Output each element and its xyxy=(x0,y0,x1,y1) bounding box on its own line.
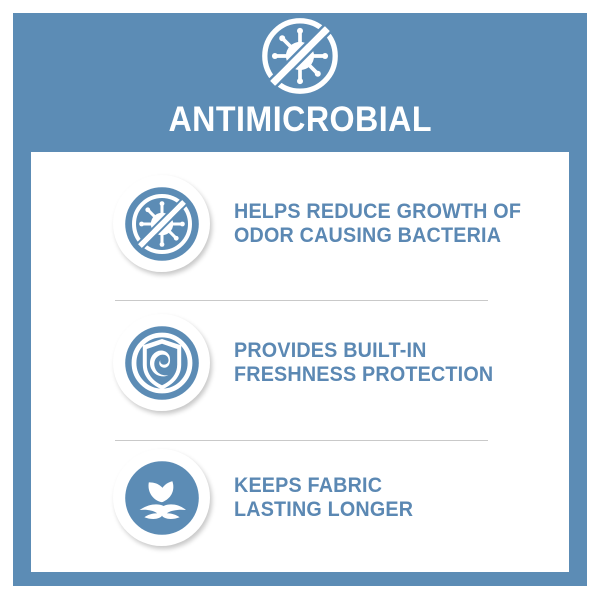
list-item-label: PROVIDES BUILT-IN FRESHNESS PROTECTION xyxy=(234,339,493,387)
feature-list: HELPS REDUCE GROWTH OF ODOR CAUSING BACT… xyxy=(31,152,569,572)
shield-swirl-icon xyxy=(122,323,202,403)
icon-badge xyxy=(113,175,210,272)
icon-badge xyxy=(113,314,210,411)
blue-frame: ANTIMICROBIAL xyxy=(13,13,587,586)
list-item: HELPS REDUCE GROWTH OF ODOR CAUSING BACT… xyxy=(31,152,569,295)
antimicrobial-infographic: ANTIMICROBIAL xyxy=(0,0,600,600)
list-item-label: HELPS REDUCE GROWTH OF ODOR CAUSING BACT… xyxy=(234,200,521,248)
no-germ-icon xyxy=(122,184,202,264)
bottom-frame-strip xyxy=(13,572,587,586)
page-title: ANTIMICROBIAL xyxy=(168,102,432,138)
header: ANTIMICROBIAL xyxy=(13,13,587,152)
features-panel: HELPS REDUCE GROWTH OF ODOR CAUSING BACT… xyxy=(31,152,569,572)
no-germ-icon xyxy=(256,12,344,100)
list-item: PROVIDES BUILT-IN FRESHNESS PROTECTION xyxy=(31,295,569,430)
icon-badge xyxy=(113,449,210,546)
leaf-icon xyxy=(122,458,202,538)
list-item-label: KEEPS FABRIC LASTING LONGER xyxy=(234,474,413,522)
list-item: KEEPS FABRIC LASTING LONGER xyxy=(31,430,569,565)
